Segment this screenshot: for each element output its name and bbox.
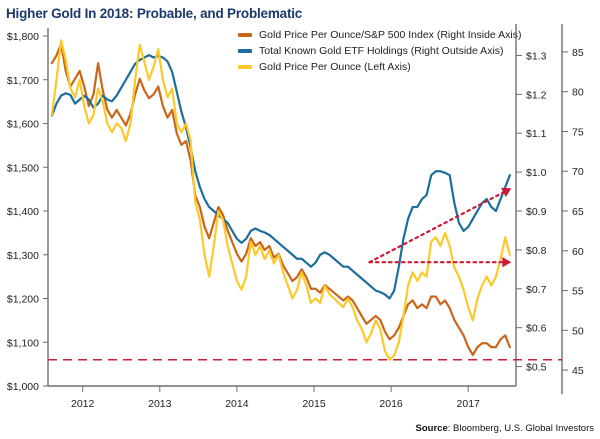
left-axis-tick-label: $1,200	[7, 294, 39, 306]
left-axis-tick-label: $1,300	[7, 250, 39, 262]
left-axis-tick-label: $1,600	[7, 119, 39, 131]
right-outside-axis-tick-label: 80	[572, 87, 584, 99]
x-axis-tick-label: 2014	[225, 398, 249, 410]
plot-area: $1,000$1,100$1,200$1,300$1,400$1,500$1,6…	[0, 0, 600, 439]
left-axis-tick-label: $1,500	[7, 162, 39, 174]
source-prefix: Source	[416, 423, 448, 434]
right-inside-axis-tick-label: $0.5	[526, 362, 547, 374]
right-outside-axis-tick-label: 75	[572, 126, 584, 138]
right-outside-axis-tick-label: 50	[572, 325, 584, 337]
x-axis-tick-label: 2017	[457, 398, 481, 410]
right-outside-axis-tick-label: 65	[572, 206, 584, 218]
left-axis-tick-label: $1,000	[7, 381, 39, 393]
x-axis-tick-label: 2016	[379, 398, 403, 410]
right-inside-axis-tick-label: $0.9	[526, 206, 547, 218]
right-inside-axis-tick-label: $0.6	[526, 323, 547, 335]
source-text: : Bloomberg, U.S. Global Investors	[448, 423, 594, 434]
left-axis-tick-label: $1,100	[7, 337, 39, 349]
left-axis-tick-label: $1,700	[7, 75, 39, 87]
left-axis-tick-label: $1,400	[7, 206, 39, 218]
right-inside-axis-tick-label: $1.1	[526, 128, 547, 140]
right-outside-axis-tick-label: 85	[572, 47, 584, 59]
chart-root: Higher Gold In 2018: Probable, and Probl…	[0, 0, 600, 439]
flat-trend-arrow-head	[502, 257, 511, 267]
rising-trend-arrow-shaft	[370, 191, 506, 262]
right-outside-axis-tick-label: 45	[572, 365, 584, 377]
x-axis-tick-label: 2013	[148, 398, 172, 410]
right-inside-axis-tick-label: $1.0	[526, 167, 547, 179]
right-outside-axis-tick-label: 70	[572, 166, 584, 178]
right-inside-axis-tick-label: $1.2	[526, 89, 547, 101]
left-axis-tick-label: $1,800	[7, 31, 39, 43]
right-inside-axis-tick-label: $0.7	[526, 284, 547, 296]
right-inside-axis-tick-label: $1.3	[526, 50, 547, 62]
right-inside-axis-tick-label: $0.8	[526, 245, 547, 257]
right-outside-axis-tick-label: 55	[572, 286, 584, 298]
source-note: Source: Bloomberg, U.S. Global Investors	[416, 423, 594, 434]
right-outside-axis-tick-label: 60	[572, 246, 584, 258]
x-axis-tick-label: 2015	[302, 398, 326, 410]
x-axis-tick-label: 2012	[71, 398, 95, 410]
